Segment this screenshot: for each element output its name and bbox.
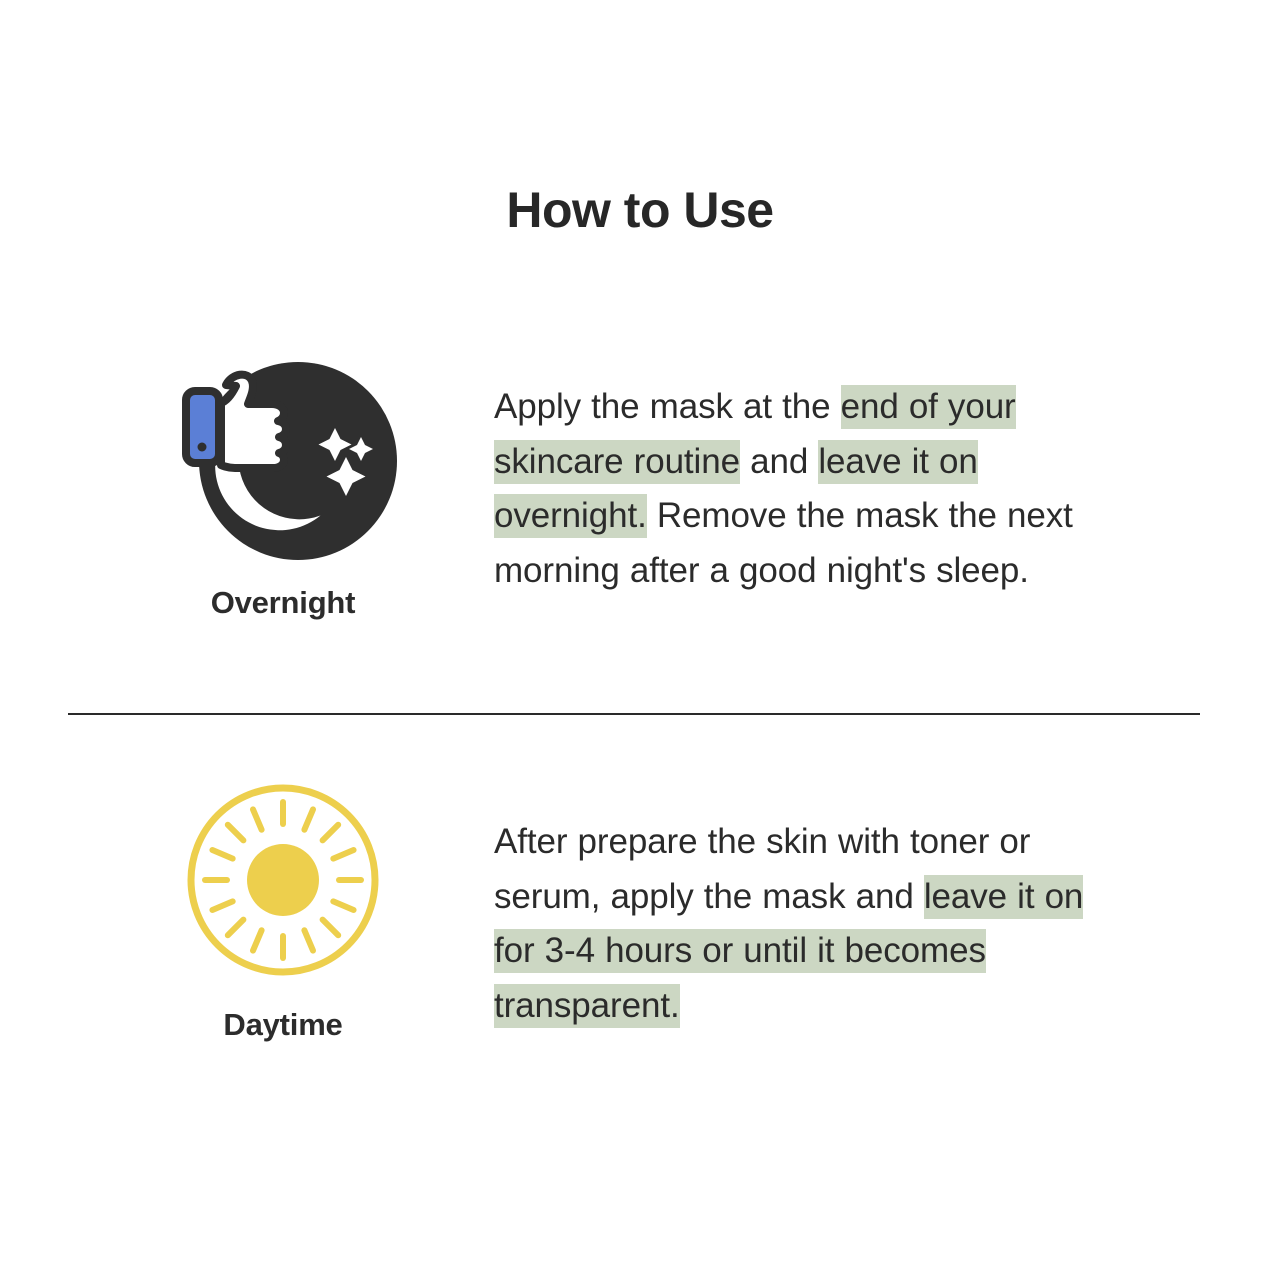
daytime-text-column: After prepare the skin with toner or ser…: [494, 780, 1114, 1068]
how-to-use-page: How to Use: [0, 0, 1280, 1280]
overnight-text-part-plain-1: Apply the mask at the: [494, 387, 841, 426]
moon-stars-thumbsup-icon-svg: [168, 345, 398, 560]
daytime-label: Daytime: [118, 1007, 448, 1043]
overnight-label: Overnight: [118, 585, 448, 621]
daytime-icon-column: Daytime: [118, 780, 448, 1043]
overnight-text-column: Apply the mask at the end of your skinca…: [494, 345, 1114, 633]
moon-stars-thumbsup-icon: [168, 345, 398, 560]
section-divider: [68, 713, 1200, 715]
daytime-instruction-text: After prepare the skin with toner or ser…: [494, 815, 1114, 1033]
overnight-icon-column: Overnight: [118, 345, 448, 621]
overnight-instruction-text: Apply the mask at the end of your skinca…: [494, 380, 1114, 598]
sun-in-circle-icon-svg: [183, 780, 383, 980]
page-title: How to Use: [0, 183, 1280, 238]
sun-in-circle-icon: [183, 780, 383, 980]
overnight-text-part-plain-2: and: [740, 442, 818, 481]
